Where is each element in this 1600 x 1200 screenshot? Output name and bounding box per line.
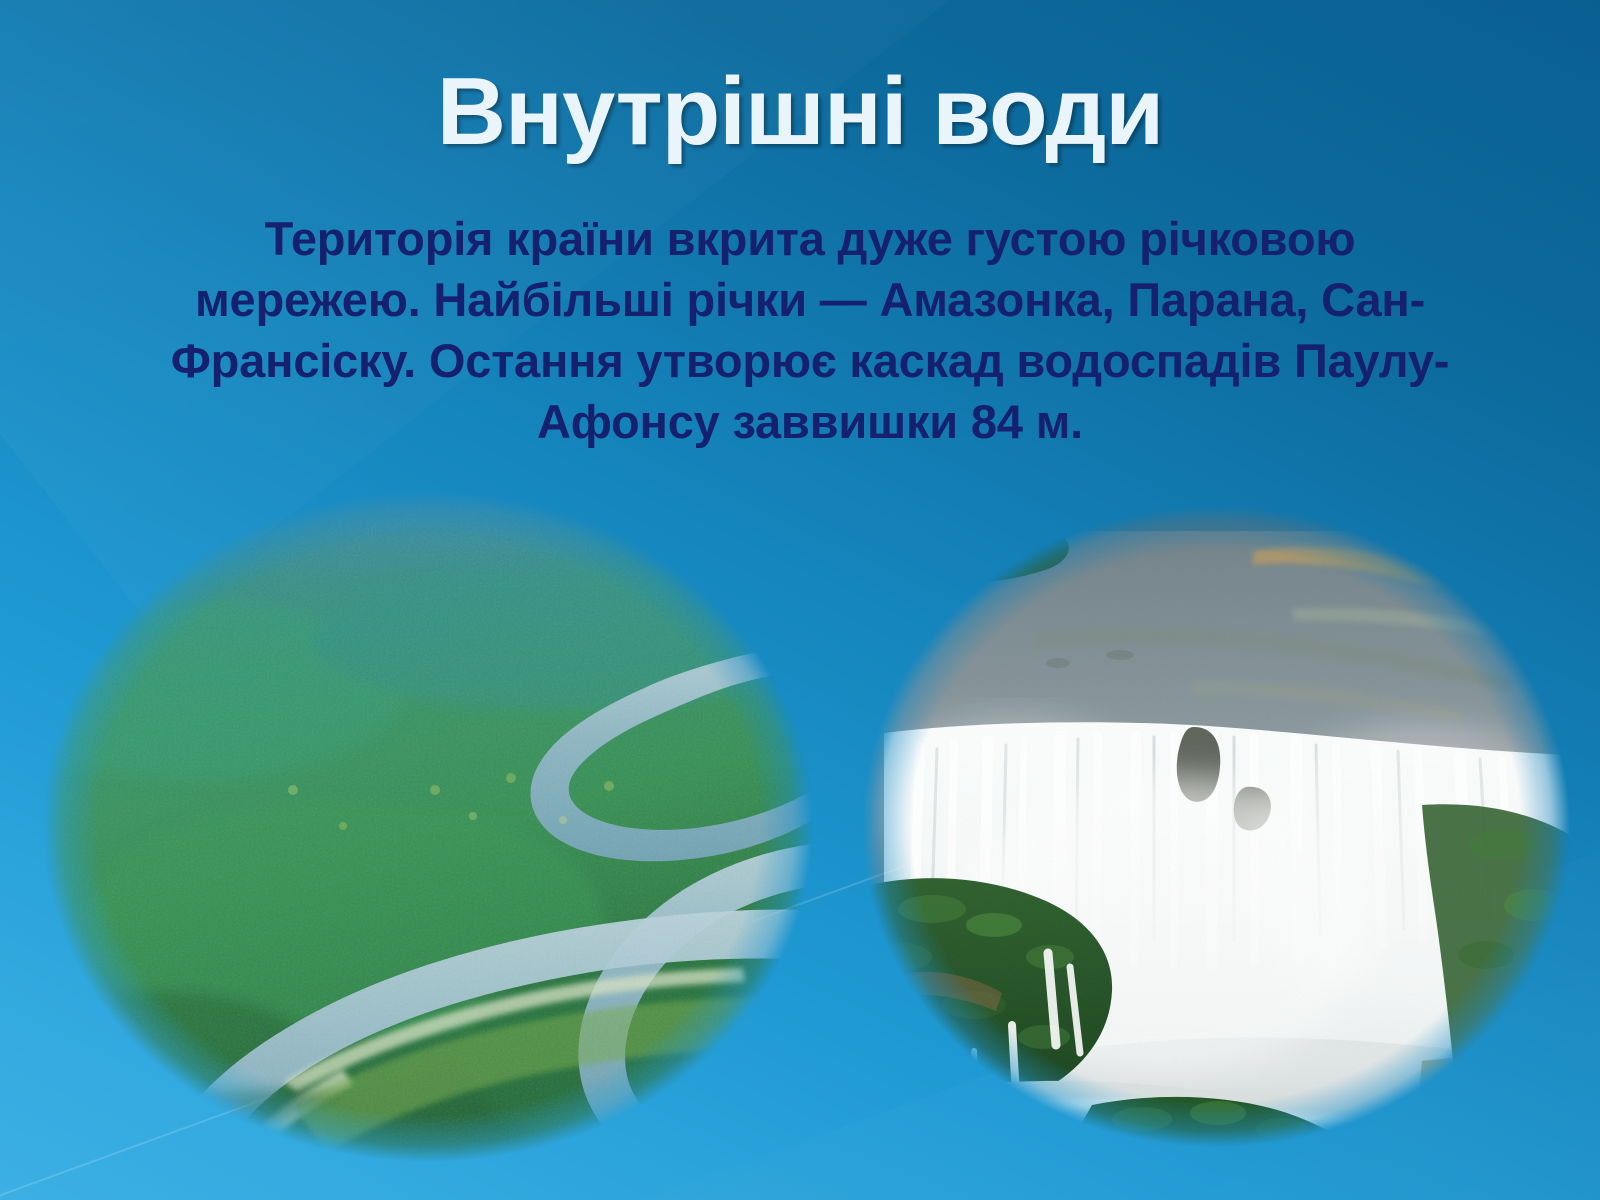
- waterfall-photo-artwork: [862, 505, 1570, 1147]
- aerial-rainforest-river-photo: [43, 490, 813, 1162]
- slide-canvas: Внутрішні води Територія країни вкрита д…: [0, 0, 1600, 1200]
- slide-body-paragraph: Територія країни вкрита дуже густою річк…: [150, 208, 1470, 452]
- river-photo-artwork: [43, 490, 813, 1162]
- slide-title: Внутрішні води: [0, 62, 1600, 163]
- waterfall-photo: [862, 505, 1570, 1147]
